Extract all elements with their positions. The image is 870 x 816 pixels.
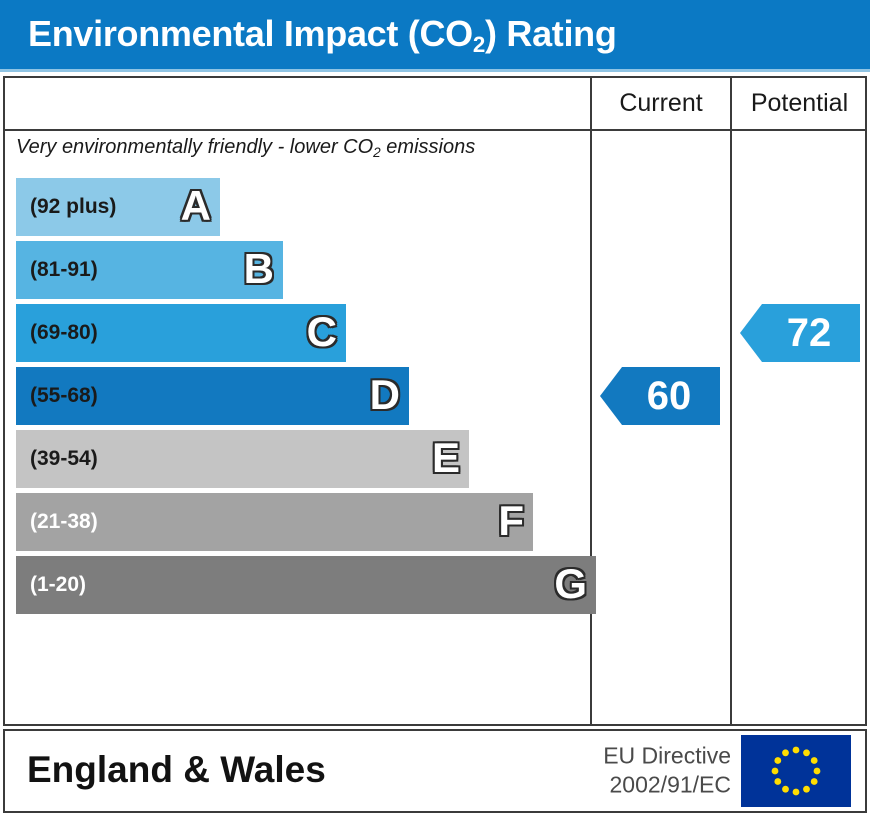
band-range-d: (55-68) xyxy=(30,384,98,408)
band-letter-e: E xyxy=(432,437,460,479)
caption-top: Very environmentally friendly - lower CO… xyxy=(16,136,475,159)
band-range-f: (21-38) xyxy=(30,510,98,534)
eu-directive-line2: 2002/91/EC xyxy=(603,771,731,800)
caption-top-prefix: Very environmentally friendly - lower CO xyxy=(16,136,373,158)
band-range-c: (69-80) xyxy=(30,321,98,345)
eu-flag-icon xyxy=(741,735,851,807)
band-letter-d: D xyxy=(370,374,400,416)
rating-band-a: (92 plus)A xyxy=(16,178,220,236)
rating-band-d: (55-68)D xyxy=(16,367,409,425)
chart-footer: England & Wales EU Directive 2002/91/EC xyxy=(3,729,867,813)
column-divider-potential xyxy=(730,78,732,724)
rating-band-b: (81-91)B xyxy=(16,241,283,299)
band-letter-g: G xyxy=(554,563,587,605)
band-range-b: (81-91) xyxy=(30,258,98,282)
rating-arrow-current: 60 xyxy=(600,367,720,425)
rating-value-potential: 72 xyxy=(769,313,832,353)
ratings-table: Current Potential Very environmentally f… xyxy=(3,76,867,726)
bands-area: Very environmentally friendly - lower CO… xyxy=(5,131,590,724)
column-header-potential: Potential xyxy=(732,78,867,129)
rating-arrow-potential: 72 xyxy=(740,304,860,362)
eu-directive-line1: EU Directive xyxy=(603,742,731,771)
page-title: Environmental Impact (CO2) Rating xyxy=(28,13,617,55)
rating-band-g: (1-20)G xyxy=(16,556,596,614)
chart-header-bar: Environmental Impact (CO2) Rating xyxy=(0,0,870,72)
page-title-subscript: 2 xyxy=(473,32,485,57)
caption-top-subscript: 2 xyxy=(373,145,381,160)
band-range-g: (1-20) xyxy=(30,573,86,597)
rating-band-f: (21-38)F xyxy=(16,493,533,551)
page-title-prefix: Environmental Impact (CO xyxy=(28,13,473,54)
rating-band-e: (39-54)E xyxy=(16,430,469,488)
band-letter-b: B xyxy=(244,248,274,290)
column-header-current: Current xyxy=(592,78,730,129)
rating-value-current: 60 xyxy=(629,376,692,416)
page-title-suffix: ) Rating xyxy=(485,13,617,54)
band-range-a: (92 plus) xyxy=(30,195,116,219)
caption-top-suffix: emissions xyxy=(381,136,475,158)
band-letter-a: A xyxy=(181,185,211,227)
rating-band-c: (69-80)C xyxy=(16,304,346,362)
band-letter-c: C xyxy=(307,311,337,353)
epc-environmental-impact-chart: Environmental Impact (CO2) Rating Curren… xyxy=(0,0,870,816)
band-letter-f: F xyxy=(498,500,524,542)
eu-directive-label: EU Directive 2002/91/EC xyxy=(603,742,731,801)
band-range-e: (39-54) xyxy=(30,447,98,471)
column-divider-current xyxy=(590,78,592,724)
region-label: England & Wales xyxy=(27,749,326,791)
